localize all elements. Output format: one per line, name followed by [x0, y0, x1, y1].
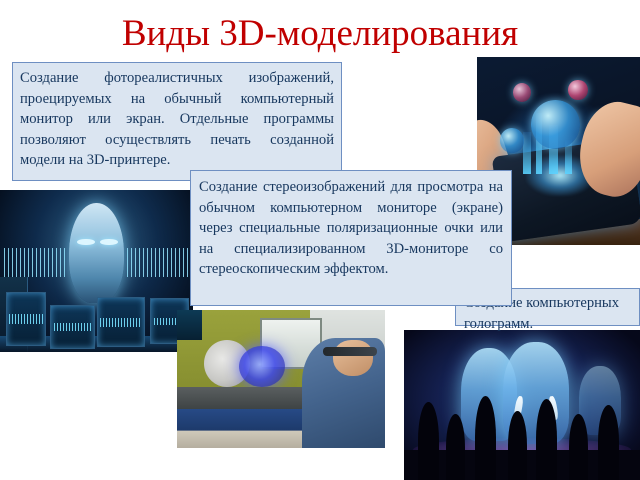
audience-head	[446, 414, 465, 480]
textbox-stereoimages-text: Создание стереоизображений для просмотра…	[199, 177, 503, 280]
android-monitor	[97, 297, 145, 348]
audience-head	[569, 414, 588, 480]
textbox-photorealistic-text: Создание фотореалистичных изображений, п…	[20, 68, 334, 171]
ar-side-monitor	[177, 310, 202, 340]
audience-head	[536, 399, 557, 480]
audience-head	[475, 396, 496, 480]
android-monitor-scanline	[100, 318, 141, 327]
phone-hologram-sphere	[568, 80, 588, 101]
android-eye	[77, 239, 94, 245]
image-hologram-elephants	[404, 330, 640, 480]
image-android-monitors	[0, 190, 193, 352]
android-eye	[100, 239, 117, 245]
android-monitor-scanline	[9, 314, 43, 323]
phone-hologram-sphere	[513, 83, 531, 102]
textbox-stereoimages: Создание стереоизображений для просмотра…	[190, 170, 512, 306]
android-face	[69, 203, 123, 303]
audience-head	[598, 405, 619, 480]
android-waveform-right	[127, 248, 189, 277]
audience-head	[508, 411, 527, 480]
android-monitor-scanline	[54, 323, 91, 331]
audience-head	[418, 402, 439, 480]
textbox-photorealistic: Создание фотореалистичных изображений, п…	[12, 62, 342, 181]
ar-glasses-icon	[323, 347, 377, 355]
android-waveform-left	[4, 248, 66, 277]
phone-hologram-sphere	[531, 100, 580, 149]
page-title: Виды 3D-моделирования	[0, 12, 640, 56]
ar-engineer-head	[333, 340, 373, 376]
android-monitor	[50, 305, 94, 349]
ar-hologram-turbine	[239, 346, 285, 387]
phone-hologram-sphere	[500, 128, 524, 152]
android-monitor	[6, 292, 47, 346]
presentation-slide: Виды 3D-моделирования	[0, 0, 640, 480]
image-ar-engineer	[177, 310, 385, 448]
